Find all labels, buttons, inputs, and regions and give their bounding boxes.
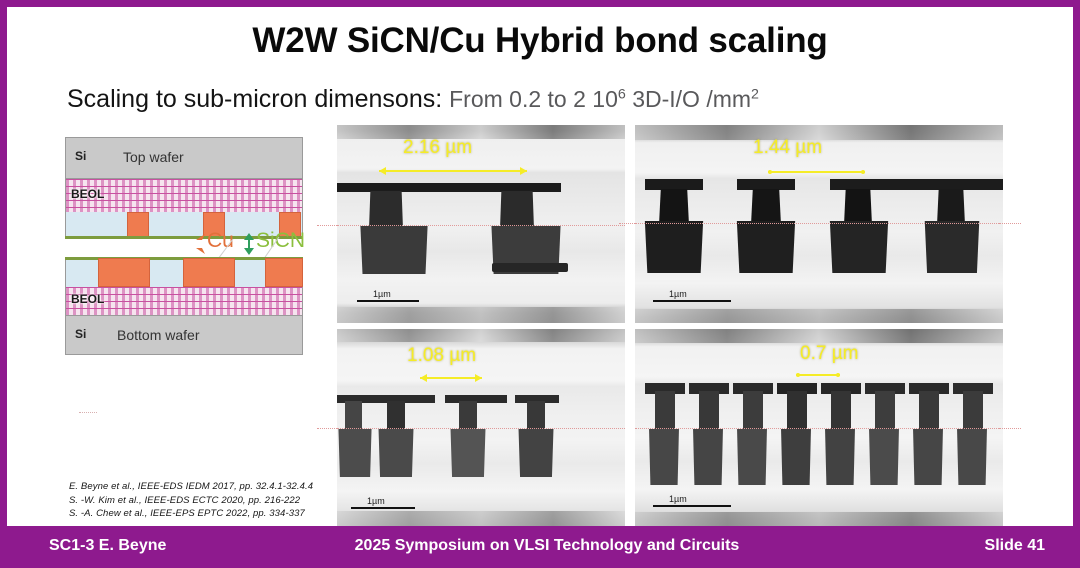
tem-bond-pillar — [844, 189, 872, 225]
slide-footer: SC1-3 E. Beyne 2025 Symposium on VLSI Te… — [7, 526, 1080, 568]
tem-texture-band — [635, 309, 1003, 323]
tem-texture-band — [337, 511, 625, 527]
interface-line-left-overflow-2 — [317, 428, 339, 429]
interface-line-mid-overflow — [619, 223, 639, 224]
bottom-wafer-label: Bottom wafer — [117, 327, 199, 343]
tem-texture-band — [635, 512, 1003, 527]
tem-bond-cap — [645, 179, 703, 190]
tem-bond-pad — [337, 429, 373, 477]
interface-line-left-overflow — [317, 225, 339, 226]
tem-bond-pillar — [369, 191, 403, 229]
tem-bond-pillar — [655, 391, 675, 433]
subtitle-tail-pre: From 0.2 to 2 10 — [449, 86, 618, 112]
tem-bond-pad — [359, 226, 429, 274]
tem-bond-pillar — [387, 401, 405, 431]
subtitle-exponent-2: 2 — [751, 86, 759, 102]
tem-bonding-interface-line — [635, 223, 1003, 224]
tem-bond-pillar — [699, 391, 719, 433]
tem-bond-cap — [737, 179, 795, 190]
tem-pitch-arrow-icon — [420, 374, 482, 382]
tem-texture-band — [337, 307, 625, 323]
bottom-cu-pad — [98, 258, 150, 287]
tem-pitch-label: 0.7 µm — [800, 343, 858, 365]
tem-bond-pad — [449, 429, 487, 477]
tem-bonding-interface-line — [337, 428, 625, 429]
hybrid-bond-schematic: Si Top wafer BEOL Cu SiCN — [65, 137, 303, 328]
tem-bond-pad — [923, 221, 981, 273]
tem-bond-pad-base — [492, 263, 568, 272]
tem-pitch-label: 2.16 µm — [403, 137, 472, 159]
tem-bond-pad — [377, 429, 415, 477]
tem-scale-label: 1µm — [373, 289, 391, 299]
tem-top-metal-line — [337, 183, 561, 192]
tem-scale-bar: 1µm — [351, 487, 415, 509]
tem-bond-pillar — [831, 391, 851, 433]
tem-bond-pillar — [459, 401, 477, 431]
tem-bond-pad — [955, 429, 989, 485]
tem-bond-pillar — [527, 401, 545, 431]
tem-bond-pillar — [787, 391, 807, 433]
tem-bonding-interface-line — [635, 428, 1003, 429]
tem-bond-pillar — [659, 189, 689, 225]
subtitle-lead: Scaling to sub-micron dimensons: — [67, 85, 442, 113]
tem-pitch-arrow-icon — [768, 168, 865, 176]
tem-bond-pillar — [743, 391, 763, 433]
tem-bond-pillar — [751, 189, 781, 225]
slide-root: W2W SiCN/Cu Hybrid bond scaling Scaling … — [0, 0, 1080, 568]
tem-scale-bar: 1µm — [653, 280, 731, 302]
top-si-block — [65, 137, 303, 179]
tem-bond-pad — [911, 429, 945, 485]
tem-scale-bar: 1µm — [653, 485, 731, 507]
tem-bond-pad — [643, 221, 705, 273]
tem-panel-2-16um[interactable]: 2.16 µm 1µm — [337, 125, 625, 323]
page-subtitle: Scaling to sub-micron dimensons: From 0.… — [67, 85, 759, 114]
interface-line-right-overflow — [999, 223, 1021, 224]
interface-line-right-overflow-2 — [999, 428, 1021, 429]
tem-bond-pad — [517, 429, 555, 477]
tem-bond-pad — [691, 429, 725, 485]
footer-conference: 2025 Symposium on VLSI Technology and Ci… — [7, 537, 1080, 555]
top-wafer-label: Top wafer — [123, 149, 184, 165]
tem-bond-pad — [647, 429, 681, 485]
bottom-cu-pad — [265, 258, 303, 287]
tem-bond-pad — [779, 429, 813, 485]
schematic-dotted-decoration — [79, 412, 97, 413]
tem-bond-cap — [375, 395, 435, 403]
subtitle-tail: From 0.2 to 2 106 3D-I/O /mm2 — [449, 86, 759, 112]
tem-bond-pillar — [919, 391, 939, 433]
tem-bond-cap — [830, 179, 1003, 190]
citation-item: S. -W. Kim et al., IEEE-EDS ECTC 2020, p… — [69, 494, 313, 508]
bottom-beol-label: BEOL — [71, 292, 104, 306]
tem-scale-label: 1µm — [367, 496, 385, 506]
bottom-cu-pad — [183, 258, 235, 287]
tem-bond-pad — [735, 221, 797, 273]
tem-texture-band — [337, 125, 625, 139]
citation-item: S. -A. Chew et al., IEEE-EPS EPTC 2022, … — [69, 507, 313, 521]
tem-bond-pillar — [875, 391, 895, 433]
tem-texture-band — [337, 329, 625, 342]
tem-pitch-label: 1.44 µm — [753, 137, 822, 159]
page-title: W2W SiCN/Cu Hybrid bond scaling — [7, 21, 1073, 61]
tem-panel-0-7um[interactable]: 0.7 µm 1µm — [635, 329, 1003, 527]
tem-bond-pad — [828, 221, 890, 273]
tem-texture-band — [635, 329, 1003, 343]
tem-pitch-arrow-icon — [379, 167, 527, 175]
tem-scale-label: 1µm — [669, 289, 687, 299]
tem-bond-pad — [867, 429, 901, 485]
top-beol-label: BEOL — [71, 187, 104, 201]
citation-list: E. Beyne et al., IEEE-EDS IEDM 2017, pp.… — [69, 480, 313, 521]
tem-panel-1-44um[interactable]: 1.44 µm 1µm — [635, 125, 1003, 323]
tem-pitch-arrow-icon — [796, 371, 840, 379]
footer-slide-number: Slide 41 — [985, 537, 1045, 555]
tem-bond-pillar — [937, 189, 965, 225]
tem-scale-label: 1µm — [669, 494, 687, 504]
tem-pitch-label: 1.08 µm — [407, 345, 476, 367]
subtitle-exponent: 6 — [618, 86, 626, 102]
bottom-si-label: Si — [75, 327, 86, 341]
citation-item: E. Beyne et al., IEEE-EDS IEDM 2017, pp.… — [69, 480, 313, 494]
tem-bond-pad — [823, 429, 857, 485]
tem-bond-pillar — [963, 391, 983, 433]
tem-bond-pad — [735, 429, 769, 485]
tem-panel-1-08um[interactable]: 1.08 µm 1µm — [337, 329, 625, 527]
tem-bonding-interface-line — [337, 225, 625, 226]
top-si-label: Si — [75, 149, 86, 163]
subtitle-tail-post: 3D-I/O /mm — [626, 86, 751, 112]
tem-bond-pillar — [345, 401, 362, 431]
tem-scale-bar: 1µm — [357, 280, 419, 302]
tem-bond-pillar — [500, 191, 534, 229]
